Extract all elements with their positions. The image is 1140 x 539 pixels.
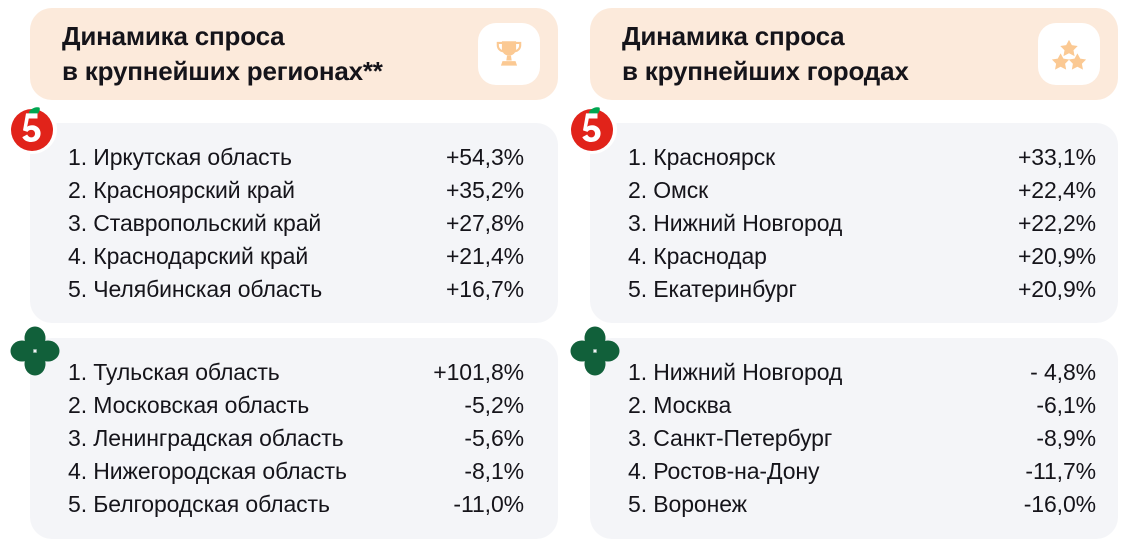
row-value: -5,6% — [464, 422, 524, 455]
list-item: 1. Нижний Новгород - 4,8% — [628, 356, 1096, 389]
row-value: -8,9% — [1036, 422, 1096, 455]
list-item: 4. Нижегородская область -8,1% — [68, 455, 536, 488]
list-item: 2. Омск +22,4% — [628, 174, 1096, 207]
row-value: -5,2% — [464, 389, 524, 422]
row-label: 4. Краснодарский край — [68, 240, 308, 273]
row-label: 3. Санкт-Петербург — [628, 422, 832, 455]
row-label: 5. Екатеринбург — [628, 273, 797, 306]
regions-column: Динамика спроса в крупнейших регионах** — [30, 0, 558, 521]
row-label: 1. Иркутская область — [68, 141, 292, 174]
cities-pyaterochka-list: 1. Красноярск +33,1% 2. Омск +22,4% 3. Н… — [590, 123, 1118, 323]
row-value: -6,1% — [1036, 389, 1096, 422]
regions-perekrestok-list: 1. Тульская область +101,8% 2. Московска… — [30, 338, 558, 538]
row-value: -16,0% — [1024, 488, 1096, 521]
list-item: 4. Краснодарский край +21,4% — [68, 240, 536, 273]
row-value: +101,8% — [433, 356, 524, 389]
list-item: 1. Красноярск +33,1% — [628, 141, 1096, 174]
list-item: 5. Екатеринбург +20,9% — [628, 273, 1096, 306]
pyaterochka-logo-icon — [6, 103, 58, 155]
row-value: +20,9% — [1018, 240, 1096, 273]
list-item: 4. Ростов-на-Дону -11,7% — [628, 455, 1096, 488]
list-item: 3. Санкт-Петербург -8,9% — [628, 422, 1096, 455]
row-label: 5. Челябинская область — [68, 273, 322, 306]
row-value: +22,2% — [1018, 207, 1096, 240]
perekrestok-clover-icon — [8, 324, 62, 378]
row-label: 4. Ростов-на-Дону — [628, 455, 819, 488]
row-label: 3. Ленинградская область — [68, 422, 344, 455]
row-label: 5. Белгородская область — [68, 488, 330, 521]
row-value: -11,7% — [1025, 455, 1096, 488]
list-item: 5. Челябинская область +16,7% — [68, 273, 536, 306]
cities-header-badge — [1038, 23, 1100, 85]
three-stars-icon — [1051, 36, 1087, 72]
row-value: -8,1% — [464, 455, 524, 488]
list-item: 3. Ставропольский край +27,8% — [68, 207, 536, 240]
list-item: 3. Ленинградская область -5,6% — [68, 422, 536, 455]
regions-header-card: Динамика спроса в крупнейших регионах** — [30, 8, 558, 100]
cities-perekrestok-list: 1. Нижний Новгород - 4,8% 2. Москва -6,1… — [590, 338, 1118, 538]
list-item: 2. Московская область -5,2% — [68, 389, 536, 422]
row-label: 2. Красноярский край — [68, 174, 295, 207]
row-label: 1. Тульская область — [68, 356, 280, 389]
list-item: 1. Иркутская область +54,3% — [68, 141, 536, 174]
row-label: 5. Воронеж — [628, 488, 747, 521]
row-value: +21,4% — [446, 240, 524, 273]
perekrestok-clover-icon — [568, 324, 622, 378]
cities-column: Динамика спроса в крупнейших городах 1. … — [590, 0, 1118, 521]
row-value: +54,3% — [446, 141, 524, 174]
cities-pyaterochka-block: 1. Красноярск +33,1% 2. Омск +22,4% 3. Н… — [590, 123, 1118, 323]
regions-header-title: Динамика спроса в крупнейших регионах** — [62, 19, 383, 88]
cities-perekrestok-block: 1. Нижний Новгород - 4,8% 2. Москва -6,1… — [590, 338, 1118, 538]
row-value: - 4,8% — [1030, 356, 1096, 389]
row-value: +22,4% — [1018, 174, 1096, 207]
row-label: 2. Московская область — [68, 389, 309, 422]
row-label: 2. Москва — [628, 389, 731, 422]
cities-header-card: Динамика спроса в крупнейших городах — [590, 8, 1118, 100]
row-label: 1. Нижний Новгород — [628, 356, 842, 389]
list-item: 5. Воронеж -16,0% — [628, 488, 1096, 521]
cities-header-title: Динамика спроса в крупнейших городах — [622, 19, 909, 88]
row-value: +20,9% — [1018, 273, 1096, 306]
row-label: 3. Нижний Новгород — [628, 207, 842, 240]
row-label: 1. Красноярск — [628, 141, 775, 174]
row-value: +35,2% — [446, 174, 524, 207]
row-label: 3. Ставропольский край — [68, 207, 321, 240]
row-value: +27,8% — [446, 207, 524, 240]
row-label: 4. Краснодар — [628, 240, 767, 273]
list-item: 1. Тульская область +101,8% — [68, 356, 536, 389]
trophy-icon — [492, 37, 526, 71]
pyaterochka-logo-icon — [566, 103, 618, 155]
row-value: +16,7% — [446, 273, 524, 306]
regions-pyaterochka-list: 1. Иркутская область +54,3% 2. Красноярс… — [30, 123, 558, 323]
demand-dynamics-board: Динамика спроса в крупнейших регионах** — [0, 0, 1140, 521]
list-item: 3. Нижний Новгород +22,2% — [628, 207, 1096, 240]
regions-pyaterochka-block: 1. Иркутская область +54,3% 2. Красноярс… — [30, 123, 558, 323]
list-item: 2. Красноярский край +35,2% — [68, 174, 536, 207]
list-item: 4. Краснодар +20,9% — [628, 240, 1096, 273]
row-label: 2. Омск — [628, 174, 708, 207]
list-item: 2. Москва -6,1% — [628, 389, 1096, 422]
row-value: +33,1% — [1018, 141, 1096, 174]
row-label: 4. Нижегородская область — [68, 455, 347, 488]
list-item: 5. Белгородская область -11,0% — [68, 488, 536, 521]
regions-header-badge — [478, 23, 540, 85]
regions-perekrestok-block: 1. Тульская область +101,8% 2. Московска… — [30, 338, 558, 538]
row-value: -11,0% — [453, 488, 524, 521]
